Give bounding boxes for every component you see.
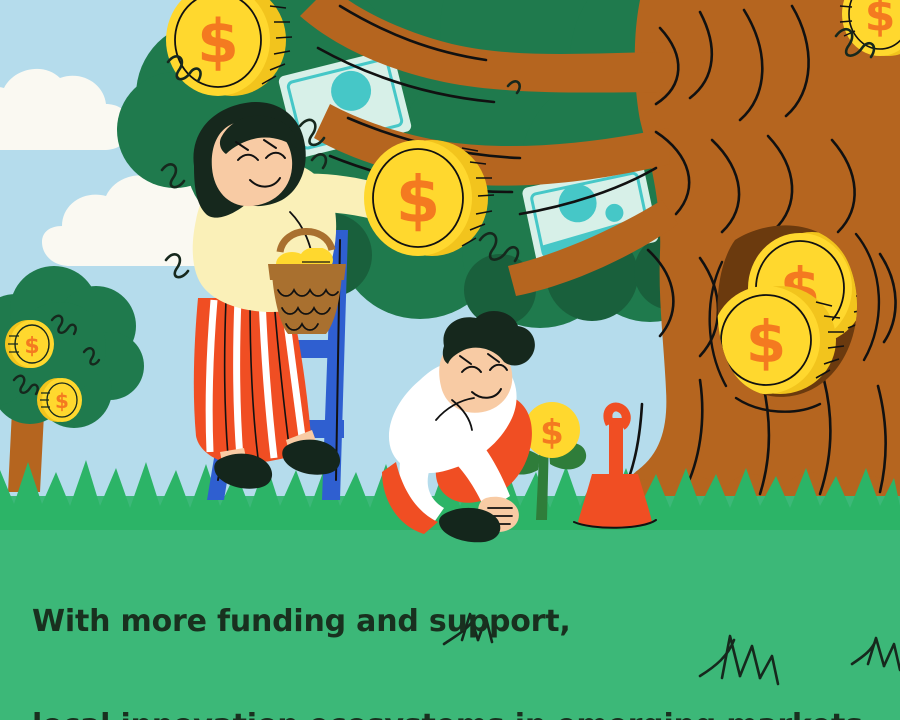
svg-text:$: $ (55, 389, 69, 413)
svg-text:$: $ (865, 0, 896, 41)
illustration-artwork: $ $ (0, 0, 900, 720)
svg-text:$: $ (396, 164, 441, 238)
svg-text:$: $ (746, 308, 786, 376)
svg-text:$: $ (197, 7, 239, 77)
svg-text:$: $ (24, 334, 39, 359)
illustration-scene: $ $ (0, 0, 900, 720)
small-tree-coin-2: $ (37, 378, 82, 422)
small-tree-coin-1: $ (5, 320, 54, 368)
basket-rim (268, 264, 346, 280)
svg-text:$: $ (540, 413, 564, 453)
